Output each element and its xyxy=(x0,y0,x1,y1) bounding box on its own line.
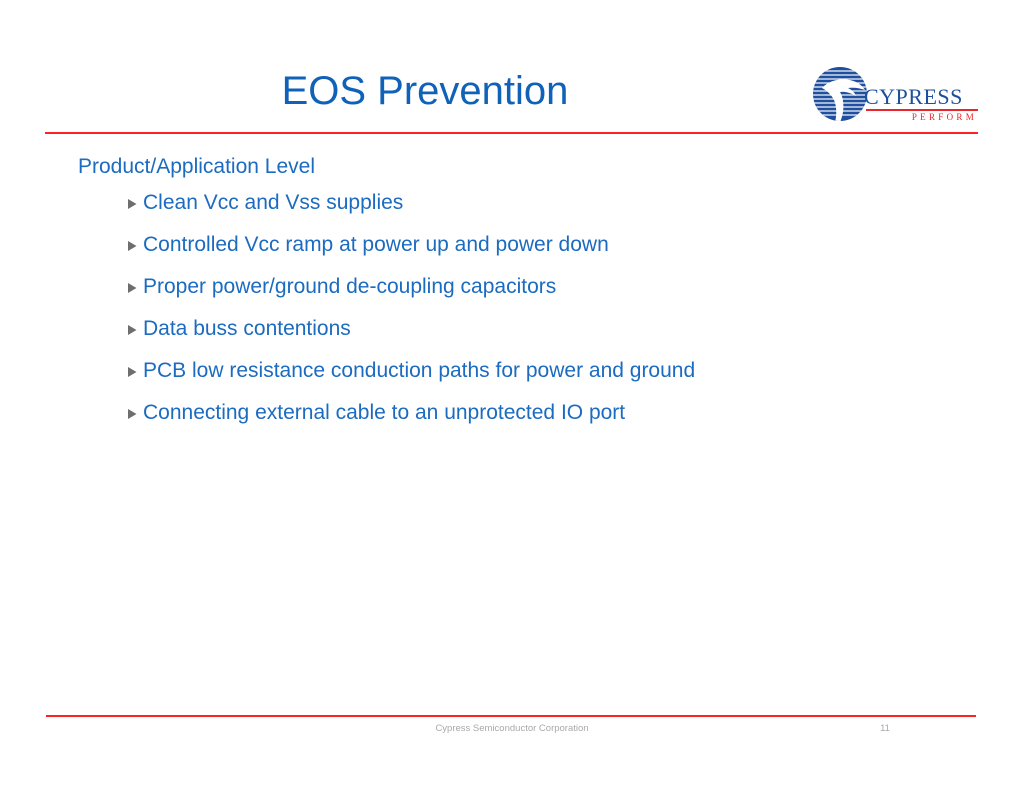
footer-divider xyxy=(46,715,976,717)
list-item: Proper power/ground de-coupling capacito… xyxy=(127,274,1024,316)
chevron-right-bullet-icon xyxy=(127,234,143,252)
list-item-label: PCB low resistance conduction paths for … xyxy=(143,358,695,384)
chevron-right-bullet-icon xyxy=(127,192,143,210)
logo-divider xyxy=(866,109,978,111)
cypress-bird-circle-icon xyxy=(812,66,868,122)
list-item: Clean Vcc and Vss supplies xyxy=(127,190,1024,232)
chevron-right-bullet-icon xyxy=(127,402,143,420)
logo-wordmark-text: CYPRESS xyxy=(864,86,980,108)
list-item-label: Clean Vcc and Vss supplies xyxy=(143,190,403,216)
page-title: EOS Prevention xyxy=(45,66,805,116)
slide-body: Product/Application Level Clean Vcc and … xyxy=(0,152,1024,442)
page-number: 11 xyxy=(845,722,925,736)
bullet-list: Clean Vcc and Vss supplies Controlled Vc… xyxy=(0,190,1024,442)
list-item: Data buss contentions xyxy=(127,316,1024,358)
list-item: Controlled Vcc ramp at power up and powe… xyxy=(127,232,1024,274)
cypress-wordmark: CYPRESS PERFORM xyxy=(864,86,980,122)
section-heading: Product/Application Level xyxy=(78,152,1024,182)
cypress-logo: CYPRESS PERFORM xyxy=(812,64,980,126)
list-item-label: Connecting external cable to an unprotec… xyxy=(143,400,625,426)
list-item-label: Data buss contentions xyxy=(143,316,351,342)
slide: EOS Prevention xyxy=(0,0,1024,791)
list-item: PCB low resistance conduction paths for … xyxy=(127,358,1024,400)
logo-tagline-text: PERFORM xyxy=(864,112,980,122)
list-item: Connecting external cable to an unprotec… xyxy=(127,400,1024,442)
list-item-label: Proper power/ground de-coupling capacito… xyxy=(143,274,556,300)
chevron-right-bullet-icon xyxy=(127,318,143,336)
chevron-right-bullet-icon xyxy=(127,276,143,294)
header-divider xyxy=(45,132,978,134)
chevron-right-bullet-icon xyxy=(127,360,143,378)
list-item-label: Controlled Vcc ramp at power up and powe… xyxy=(143,232,609,258)
